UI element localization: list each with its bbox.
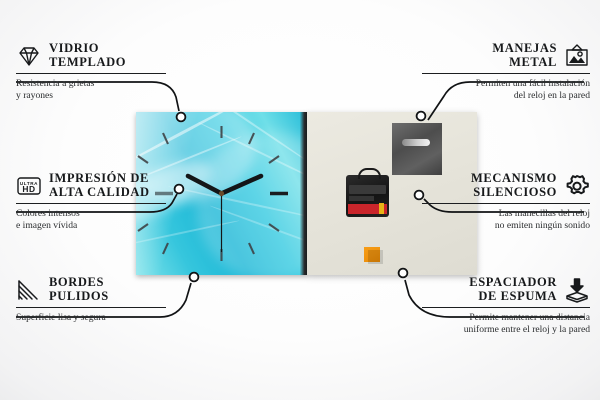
feature-header: VIDRIO TEMPLADO	[16, 42, 166, 69]
feature-header: BORDES PULIDOS	[16, 276, 166, 303]
callout-dot-vidrio-templado	[177, 113, 186, 122]
callout-dot-impresion	[175, 185, 184, 194]
gear-icon	[564, 173, 590, 199]
feature-subtitle: Permiten una fácil instalación del reloj…	[422, 78, 590, 101]
feature-espaciador-espuma: ESPACIADOR DE ESPUMA Permite mantener un…	[422, 276, 590, 336]
feature-title: VIDRIO TEMPLADO	[49, 42, 126, 69]
divider	[422, 203, 590, 204]
feature-title: IMPRESIÓN DE ALTA CALIDAD	[49, 172, 150, 199]
feature-mecanismo-silencioso: MECANISMO SILENCIOSO Las manecillas del …	[422, 172, 590, 232]
feature-header: ESPACIADOR DE ESPUMA	[422, 276, 590, 303]
feature-subtitle: Resistencia a grietas y rayones	[16, 78, 166, 101]
divider	[16, 73, 166, 74]
feature-impresion-alta-calidad: ultra HD IMPRESIÓN DE ALTA CALIDAD Color…	[16, 172, 166, 232]
divider	[422, 73, 590, 74]
feature-subtitle: Superficie lisa y segura	[16, 312, 166, 324]
feature-title: BORDES PULIDOS	[49, 276, 109, 303]
feature-subtitle: Colores intensos e imagen vívida	[16, 208, 166, 231]
infographic-canvas: VIDRIO TEMPLADO Resistencia a grietas y …	[0, 0, 600, 400]
divider	[16, 203, 166, 204]
callout-dot-manejas	[417, 112, 426, 121]
feature-title: ESPACIADOR DE ESPUMA	[469, 276, 557, 303]
svg-text:HD: HD	[22, 184, 35, 194]
feature-title: MANEJAS METAL	[492, 42, 557, 69]
feature-header: ultra HD IMPRESIÓN DE ALTA CALIDAD	[16, 172, 166, 199]
ultra-hd-icon: ultra HD	[16, 173, 42, 199]
feature-manejas-metal: MANEJAS METAL Permiten una fácil instala…	[422, 42, 590, 102]
divider	[16, 307, 166, 308]
feature-subtitle: Las manecillas del reloj no emiten ningú…	[422, 208, 590, 231]
divider	[422, 307, 590, 308]
callout-dot-bordes	[190, 273, 199, 282]
feature-bordes-pulidos: BORDES PULIDOS Superficie lisa y segura	[16, 276, 166, 324]
polished-edges-icon	[16, 277, 42, 303]
feature-header: MECANISMO SILENCIOSO	[422, 172, 590, 199]
foam-spacer-arrow-icon	[564, 277, 590, 303]
picture-frame-hanger-icon	[564, 43, 590, 69]
callout-dot-espaciador	[399, 269, 408, 278]
feature-title: MECANISMO SILENCIOSO	[471, 172, 557, 199]
diamond-icon	[16, 43, 42, 69]
feature-header: MANEJAS METAL	[422, 42, 590, 69]
feature-subtitle: Permite mantener una distancia uniforme …	[422, 312, 590, 335]
feature-vidrio-templado: VIDRIO TEMPLADO Resistencia a grietas y …	[16, 42, 166, 102]
